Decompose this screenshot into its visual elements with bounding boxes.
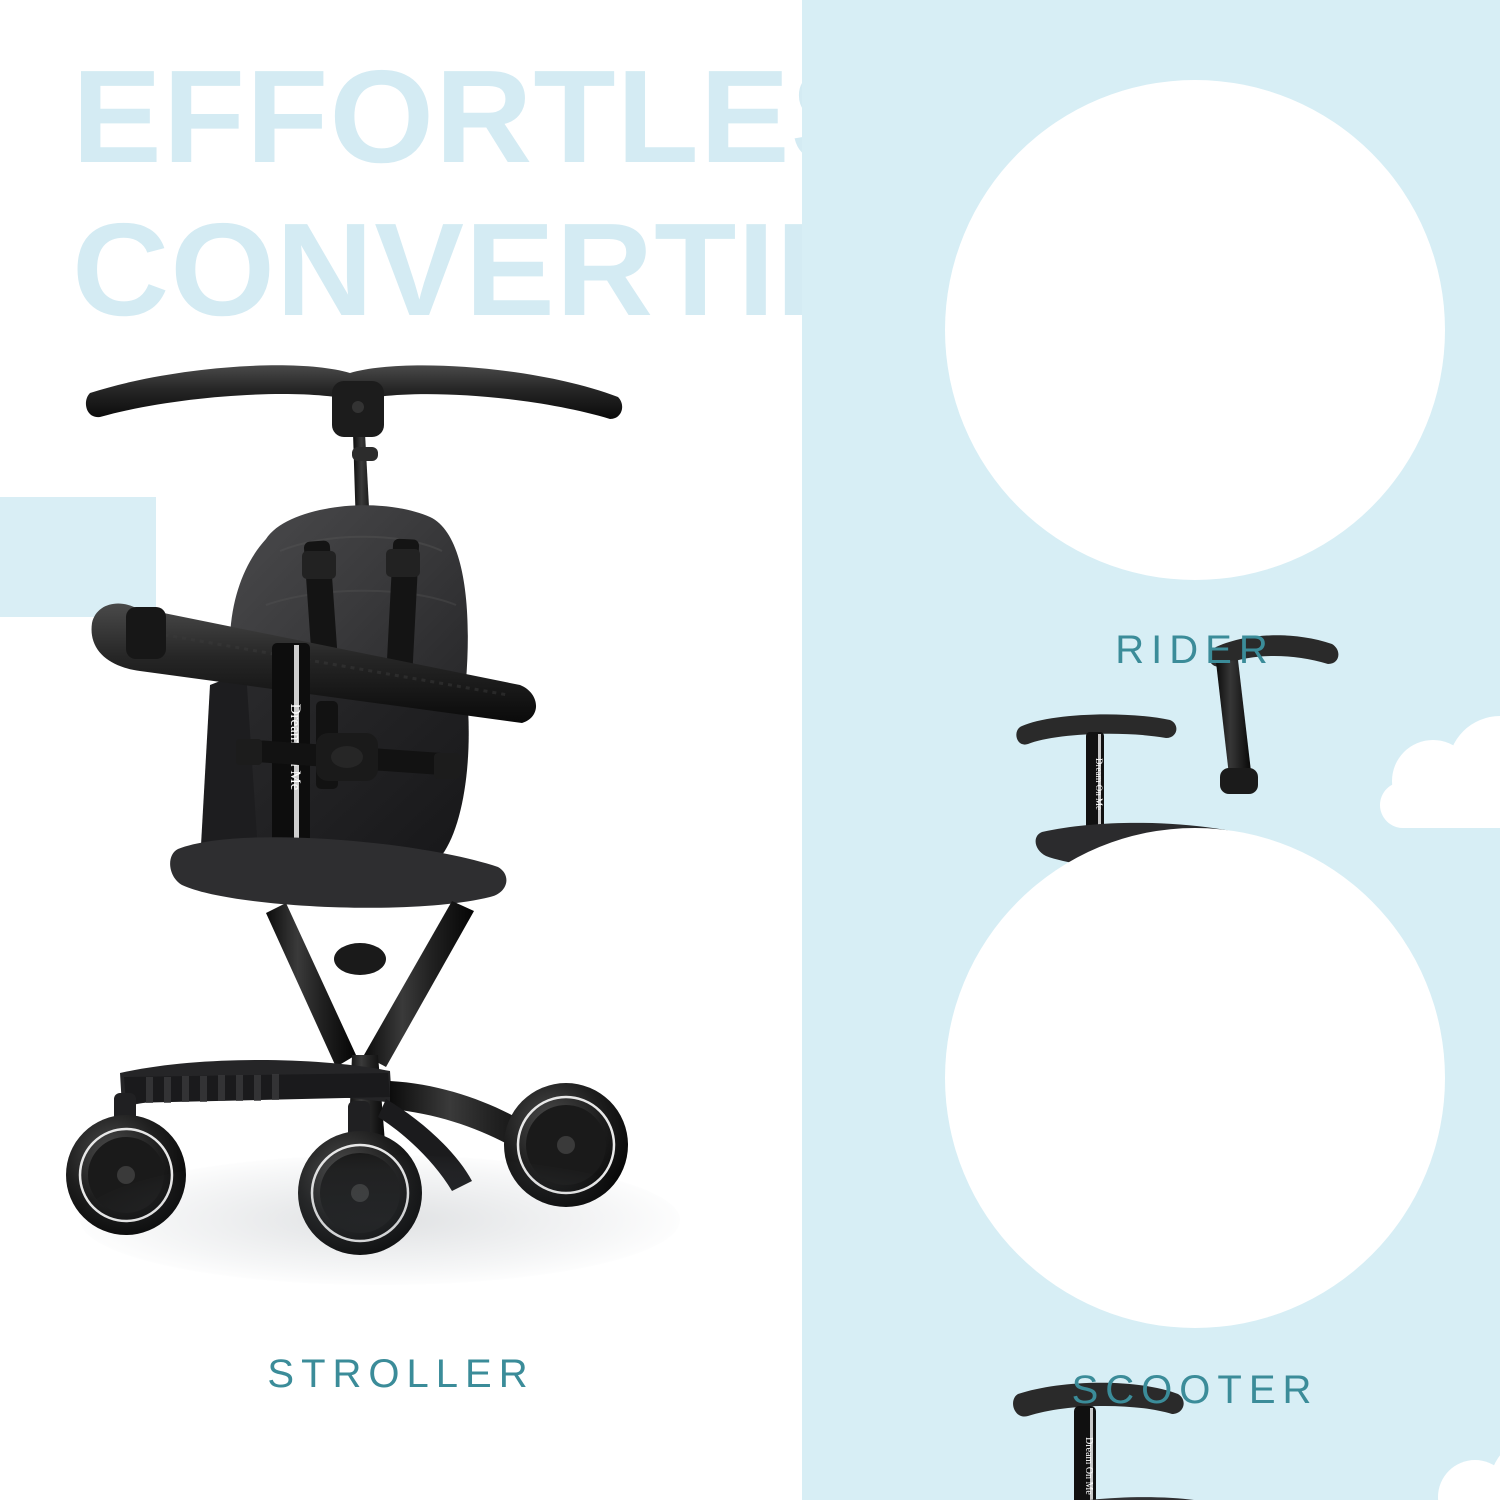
brand-text-rider: Dream On Me: [1094, 758, 1104, 810]
rider-caption: RIDER: [945, 628, 1445, 673]
cloud-right-edge-icon: [1380, 700, 1500, 830]
rider-card-circle: [945, 80, 1445, 580]
stroller-product-image: Dream On Me: [60, 355, 720, 1295]
right-panel: Dream On Me: [802, 0, 1500, 1500]
headline-line-1: EFFORTLESSLY: [72, 52, 802, 181]
left-panel: EFFORTLESSLY CONVERTIBLE: [0, 0, 802, 1500]
product-feature-image: EFFORTLESSLY CONVERTIBLE: [0, 0, 1500, 1500]
stroller-illustration: Dream On Me: [60, 355, 720, 1295]
scooter-card-circle: [945, 828, 1445, 1328]
page-title: EFFORTLESSLY CONVERTIBLE: [72, 52, 802, 335]
stroller-caption: STROLLER: [0, 1352, 802, 1397]
scooter-caption: SCOOTER: [945, 1368, 1445, 1413]
headline-line-2: CONVERTIBLE: [72, 205, 802, 334]
brand-text-scooter: Dream On Me: [1083, 1437, 1094, 1495]
cloud-bottom-right-icon: [1438, 1430, 1500, 1500]
